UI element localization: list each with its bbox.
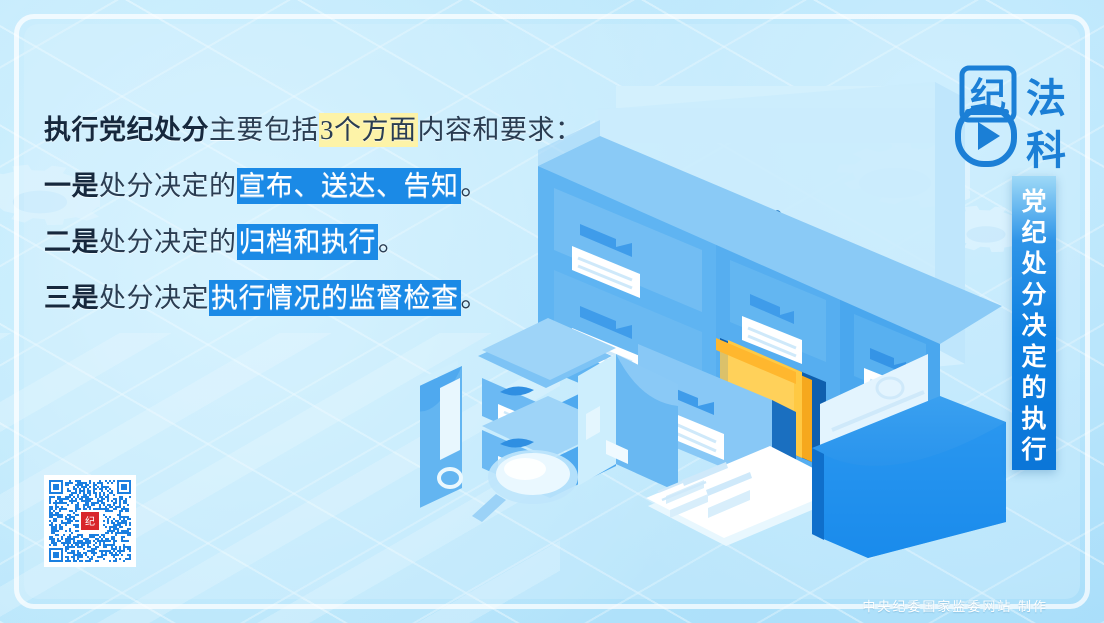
banner-char-1: 纪 (1021, 218, 1046, 249)
banner-char-0: 党 (1021, 187, 1046, 218)
point-2-after: 。 (378, 227, 406, 257)
point-3-ordinal: 三是 (44, 283, 99, 313)
qr-code[interactable]: 纪 (44, 475, 136, 567)
point-3-before: 处分决定 (99, 283, 209, 313)
point-3: 三是处分决定执行情况的监督检查。 (44, 270, 604, 326)
point-1-after: 。 (461, 171, 489, 201)
headline-lead: 执行党纪处分 (44, 115, 209, 145)
logo-char-fa: 法 (1026, 76, 1066, 121)
point-2-highlight: 归档和执行 (237, 224, 379, 260)
banner-char-4: 决 (1021, 311, 1046, 342)
vertical-banner: 党 纪 处 分 决 定 的 执 行 (1012, 176, 1056, 470)
footer-credit: 中央纪委国家监委网站 制作 (862, 596, 1048, 615)
qr-code-image: 纪 (49, 480, 131, 562)
point-1-ordinal: 一是 (44, 171, 99, 201)
ring-binder (420, 360, 462, 518)
logo-char-ke: 科 (1026, 128, 1066, 173)
svg-text:纪: 纪 (85, 516, 95, 528)
banner-char-8: 行 (1021, 435, 1046, 466)
point-3-highlight: 执行情况的监督检查 (209, 280, 461, 316)
banner-char-2: 处 (1021, 249, 1046, 280)
point-3-after: 。 (461, 283, 489, 313)
play-triangle-icon (978, 122, 1000, 150)
blue-folder-with-document (812, 354, 1006, 558)
headline-mid: 主要包括 (209, 115, 319, 145)
text-block: 执行党纪处分主要包括3个方面内容和要求： 一是处分决定的宣布、送达、告知。 二是… (44, 102, 604, 326)
banner-char-7: 执 (1021, 404, 1046, 435)
point-2: 二是处分决定的归档和执行。 (44, 214, 604, 270)
headline-highlight-yellow: 3个方面 (319, 113, 418, 147)
brand-logo[interactable]: 纪 法 科 (948, 64, 1076, 176)
point-1-highlight: 宣布、送达、告知 (237, 168, 461, 204)
poster-root: 执行党纪处分主要包括3个方面内容和要求： 一是处分决定的宣布、送达、告知。 二是… (0, 0, 1104, 623)
banner-char-3: 分 (1021, 280, 1046, 311)
banner-char-6: 的 (1021, 373, 1046, 404)
headline: 执行党纪处分主要包括3个方面内容和要求： (44, 102, 604, 158)
banner-char-5: 定 (1021, 342, 1046, 373)
point-1-before: 处分决定的 (99, 171, 237, 201)
point-2-ordinal: 二是 (44, 227, 99, 257)
headline-tail: 内容和要求： (418, 115, 583, 145)
point-2-before: 处分决定的 (99, 227, 237, 257)
point-1: 一是处分决定的宣布、送达、告知。 (44, 158, 604, 214)
